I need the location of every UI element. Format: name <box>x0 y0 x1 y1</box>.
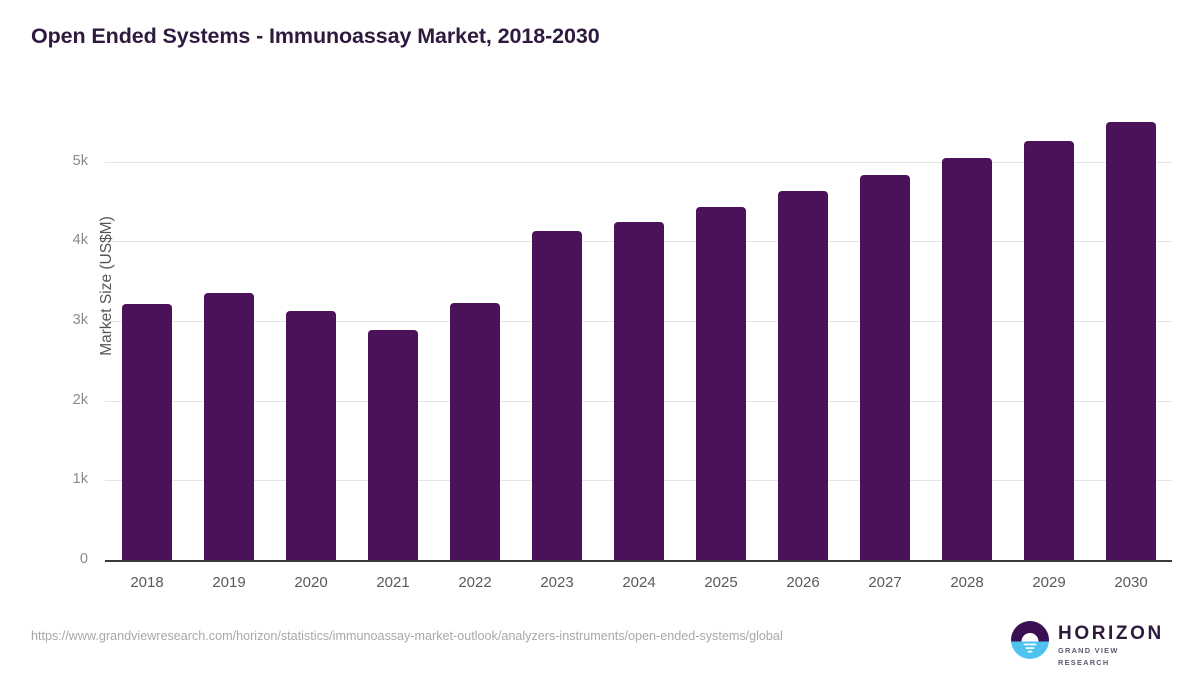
x-axis-tick-label: 2023 <box>512 574 602 591</box>
horizon-logo: HORIZON GRAND VIEW RESEARCH <box>1010 618 1170 662</box>
x-axis-tick-label: 2026 <box>758 574 848 591</box>
logo-tagline: GRAND VIEW RESEARCH <box>1058 645 1170 669</box>
x-axis-tick-label: 2021 <box>348 574 438 591</box>
x-axis-tick-label: 2030 <box>1086 574 1176 591</box>
x-axis-tick-label: 2024 <box>594 574 684 591</box>
x-axis-tick-label: 2028 <box>922 574 1012 591</box>
chart-card: Open Ended Systems - Immunoassay Market,… <box>0 0 1200 675</box>
x-axis-tick-label: 2027 <box>840 574 930 591</box>
logo-name: HORIZON <box>1058 624 1170 644</box>
x-axis-tick-label: 2029 <box>1004 574 1094 591</box>
x-axis-tick-label: 2022 <box>430 574 520 591</box>
x-axis-tick-label: 2020 <box>266 574 356 591</box>
x-axis-tick-labels: 2018201920202021202220232024202520262027… <box>0 0 1200 675</box>
x-axis-tick-label: 2025 <box>676 574 766 591</box>
logo-text: HORIZON GRAND VIEW RESEARCH <box>1058 624 1170 669</box>
source-url[interactable]: https://www.grandviewresearch.com/horizo… <box>31 628 966 644</box>
x-axis-tick-label: 2019 <box>184 574 274 591</box>
x-axis-tick-label: 2018 <box>102 574 192 591</box>
horizon-sun-circle-icon <box>1010 620 1050 660</box>
